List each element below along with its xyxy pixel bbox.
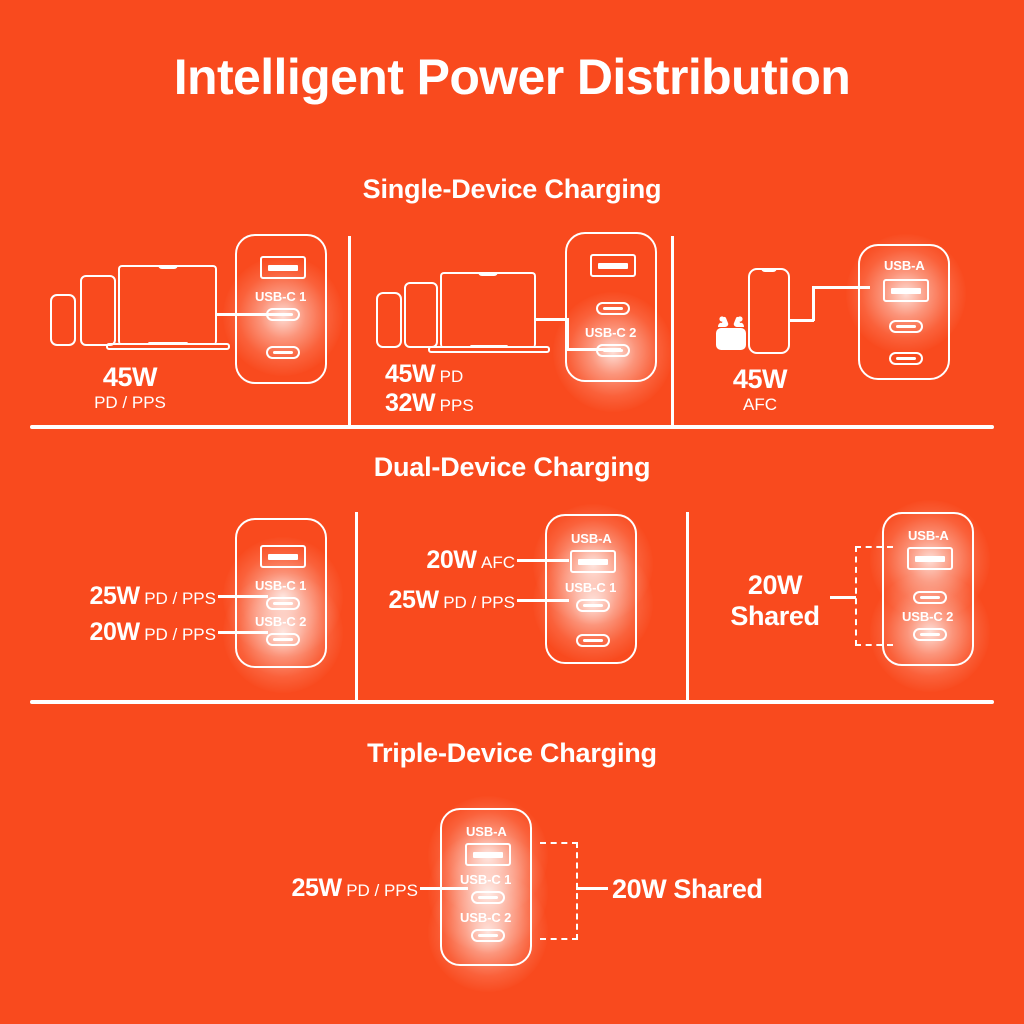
panel-dual-2: 20W AFC 25W PD / PPS USB-A USB-C 1 [365,508,683,688]
protocol-value: PD / PPS [60,393,200,413]
watts-value: 25W [292,874,342,902]
watts-value: 32W [385,389,435,417]
port-usb-c-1 [889,320,923,333]
divider-vertical-dual-1 [355,512,358,702]
watts-value: 20W [426,546,476,574]
device-laptop-screen [118,265,217,345]
power-label-dual-2-row-2: 25W PD / PPS [365,586,515,615]
port-usb-c-2 [576,634,610,647]
watts-value: 25W [90,582,140,610]
device-phone [50,294,76,346]
port-usb-c-1 [266,597,300,610]
protocol-value: AFC [481,553,515,572]
power-label-single-3: 45W AFC [698,364,822,415]
protocol-value: PD / PPS [144,589,216,608]
protocol-value: AFC [698,395,822,415]
charger-dual-1: USB-C 1 USB-C 2 [235,518,327,668]
port-usb-c-2 [266,633,300,646]
port-usb-a [260,545,306,568]
port-caption-usb-a: USB-A [571,531,612,546]
charger-single-3: USB-A [858,244,950,380]
power-label-triple-left: 25W PD / PPS [240,874,418,903]
divider-vertical-single-2 [671,236,674,426]
device-phone [748,268,790,354]
divider-vertical-dual-2 [686,512,689,702]
page-title: Intelligent Power Distribution [0,50,1024,105]
port-usb-c-2 [266,346,300,359]
power-label-dual-2-row-1: 20W AFC [365,546,515,575]
wire-single-3-seg2 [812,286,815,321]
port-usb-a [590,254,636,277]
watts-value: 25W [389,586,439,614]
port-usb-c-2 [596,344,630,357]
port-usb-c-1 [266,308,300,321]
divider-vertical-single-1 [348,236,351,426]
port-usb-a [465,843,511,866]
panel-single-3: USB-A 45W AFC [690,230,994,425]
wire-single-3-seg1 [790,319,814,322]
port-caption-usb-c-2: USB-C 2 [460,910,511,925]
divider-horizontal-1 [30,425,994,429]
port-caption-usb-c-1: USB-C 1 [255,578,306,593]
port-usb-a [570,550,616,573]
divider-horizontal-2 [30,700,994,704]
phone-notch [761,268,777,272]
watts-value: 45W [385,360,435,388]
charger-single-2: USB-C 2 [565,232,657,382]
panel-dual-1: 25W PD / PPS 20W PD / PPS USB-C 1 USB-C … [30,510,350,690]
power-label-single-2: 45W PD 32W PPS [385,360,474,418]
device-tablet [404,282,438,348]
port-usb-c-1 [576,599,610,612]
laptop-notch [158,265,178,269]
charger-triple-1: USB-A USB-C 1 USB-C 2 [440,808,532,966]
wire-dual-3-stub [830,596,856,599]
watts-value: 20W [90,618,140,646]
port-usb-c-2 [471,929,505,942]
port-caption-usb-a: USB-A [466,824,507,839]
port-caption-usb-a: USB-A [884,258,925,273]
port-caption-usb-c-1: USB-C 1 [255,289,306,304]
infographic-root: Intelligent Power Distribution Single-De… [0,0,1024,1024]
power-label-dual-1-row-2: 20W PD / PPS [30,618,216,647]
port-usb-c-1 [471,891,505,904]
watts-value: 45W [698,364,822,395]
wire-triple-shared [576,887,608,890]
power-label-triple-right: 20W Shared [612,874,763,905]
section-heading-triple: Triple-Device Charging [0,738,1024,769]
power-row-1: 45W PD [385,360,474,389]
port-caption-usb-c-2: USB-C 2 [902,609,953,624]
port-caption-usb-c-2: USB-C 2 [585,325,636,340]
port-usb-a [260,256,306,279]
protocol-value: PD / PPS [443,593,515,612]
port-usb-c-2 [889,352,923,365]
device-phone [376,292,402,348]
port-usb-c-1 [913,591,947,604]
protocol-value: PD / PPS [346,881,418,900]
protocol-value: PD / PPS [144,625,216,644]
shared-text: Shared [720,601,830,632]
protocol-value: PD [440,367,464,386]
panel-single-1: USB-C 1 45W PD / PPS [30,230,348,425]
device-earbuds [710,308,752,352]
charger-single-1: USB-C 1 [235,234,327,384]
device-tablet [80,275,116,346]
charger-dual-2: USB-A USB-C 1 [545,514,637,664]
port-usb-a [907,547,953,570]
panel-dual-3: 20W Shared USB-A USB-C 2 [700,508,994,688]
port-caption-usb-c-1: USB-C 1 [460,872,511,887]
laptop-trackpad [148,342,188,345]
laptop-notch [478,272,498,276]
panel-single-2: USB-C 2 45W PD 32W PPS [360,230,665,425]
power-label-dual-1-row-1: 25W PD / PPS [30,582,216,611]
device-laptop-screen [440,272,536,348]
protocol-value: PPS [440,396,474,415]
power-row-2: 32W PPS [385,389,474,418]
section-heading-dual: Dual-Device Charging [0,452,1024,483]
wire-single-2-seg1 [536,318,568,321]
port-caption-usb-c-1: USB-C 1 [565,580,616,595]
shared-watts: 20W [720,570,830,601]
laptop-trackpad [470,345,508,348]
panel-triple-1: 25W PD / PPS USB-A USB-C 1 USB-C 2 20W S… [240,800,800,975]
port-usb-c-1 [596,302,630,315]
port-usb-a [883,279,929,302]
port-usb-c-2 [913,628,947,641]
shared-bracket-triple [540,842,578,940]
power-label-single-1: 45W PD / PPS [60,362,200,413]
watts-value: 45W [60,362,200,393]
port-caption-usb-c-2: USB-C 2 [255,614,306,629]
port-caption-usb-a: USB-A [908,528,949,543]
power-label-dual-3: 20W Shared [720,570,830,632]
charger-dual-3: USB-A USB-C 2 [882,512,974,666]
section-heading-single: Single-Device Charging [0,174,1024,205]
shared-label: 20W Shared [612,874,763,904]
